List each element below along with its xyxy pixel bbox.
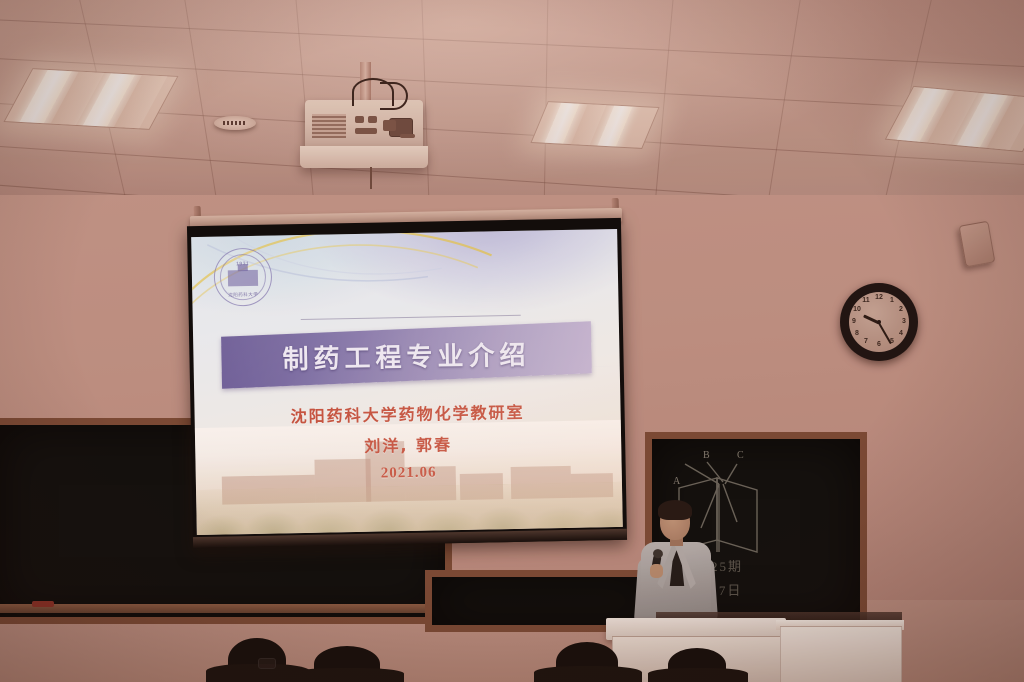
ceiling-projector[interactable]: [305, 100, 423, 152]
slide-title: 制药工程专业介绍: [282, 334, 531, 376]
wall-clock: 12 1 2 3 4 5 6 7 8 9 10 11: [840, 283, 918, 361]
audience-shoulders: [292, 668, 404, 682]
clock-number: 2: [896, 306, 906, 314]
ceiling-light-panel-right: [885, 86, 1024, 152]
slide-subtitle-block: 沈阳药科大学药物化学教研室 刘洋, 郭春 2021.06: [194, 397, 621, 486]
presenter-hand-holding-mic: [650, 564, 663, 578]
seal-building-icon: [228, 270, 258, 287]
clock-number: 1: [887, 297, 897, 305]
chalk-eraser[interactable]: [32, 601, 54, 607]
clock-number: 8: [852, 330, 862, 338]
projector-cable-loop: [380, 82, 408, 110]
slide-surface: 1931 沈阳药科大学 制药工程专业介绍 沈阳药科大学药物化学教研室 刘洋, 郭…: [191, 229, 623, 535]
seal-cn-text: 沈阳药科大学: [215, 292, 271, 299]
clock-number: 7: [861, 338, 871, 346]
presenter-hair: [658, 500, 692, 520]
clock-number: 10: [852, 306, 862, 314]
blackboard-ledge-left: [0, 604, 438, 613]
projector-power-wire: [370, 167, 372, 189]
clock-face: 12 1 2 3 4 5 6 7 8 9 10 11: [849, 292, 909, 352]
audience-shoulders: [534, 666, 642, 682]
clock-number: 12: [874, 294, 884, 302]
lecture-hall-photo: 12 1 2 3 4 5 6 7 8 9 10 11: [0, 0, 1024, 682]
ceiling-light-panel-center: [530, 101, 659, 149]
slide-presenters: 刘洋, 郭春: [195, 428, 621, 460]
eyeglasses-icon: [258, 658, 276, 669]
projector-base: [300, 146, 428, 168]
ceiling-light-panel-left: [3, 68, 178, 130]
clock-number: 3: [899, 318, 909, 326]
side-counter: [780, 626, 902, 682]
clock-number: 6: [874, 341, 884, 349]
clock-center-pin: [877, 320, 881, 324]
clock-number: 9: [849, 318, 859, 326]
ceiling: [0, 0, 1024, 215]
smoke-detector-icon: [214, 116, 256, 130]
audience-shoulders: [648, 668, 748, 682]
clock-number: 4: [896, 330, 906, 338]
projection-screen[interactable]: 1931 沈阳药科大学 制药工程专业介绍 沈阳药科大学药物化学教研室 刘洋, 郭…: [187, 218, 627, 548]
clock-number: 11: [861, 297, 871, 305]
slide-organization: 沈阳药科大学药物化学教研室: [194, 397, 620, 429]
